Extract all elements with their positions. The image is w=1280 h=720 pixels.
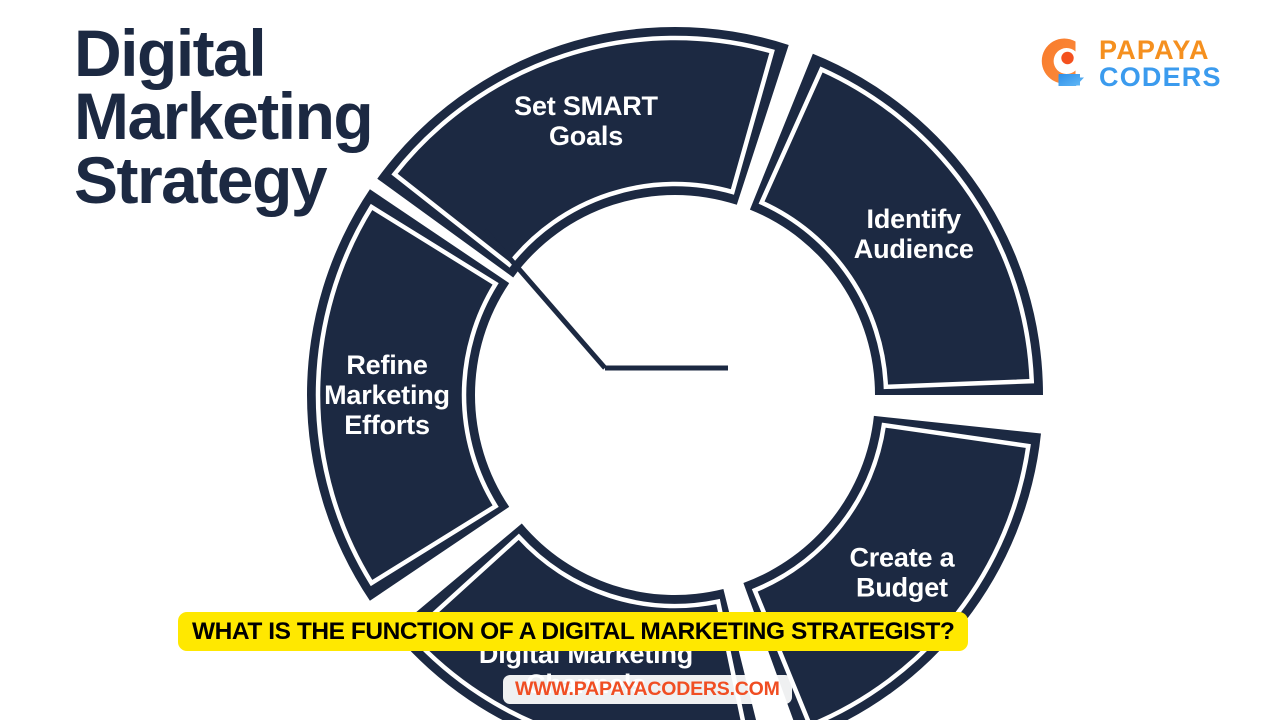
brand-name-line-2: CODERS: [1099, 64, 1222, 91]
headline-banner-text: WHAT IS THE FUNCTION OF A DIGITAL MARKET…: [192, 618, 954, 646]
segment-label-create-a-budget: Create aBudget: [849, 542, 955, 602]
website-url-text: WWW.PAPAYACODERS.COM: [515, 678, 780, 701]
brand-name-line-1: PAPAYA: [1099, 37, 1222, 64]
headline-banner: WHAT IS THE FUNCTION OF A DIGITAL MARKET…: [178, 612, 968, 651]
infographic-canvas: Digital Marketing Strategy: [0, 0, 1280, 720]
website-url-badge[interactable]: WWW.PAPAYACODERS.COM: [503, 675, 792, 704]
brand-logo-text: PAPAYA CODERS: [1099, 37, 1222, 91]
segment-label-identify-audience: IdentifyAudience: [854, 204, 974, 264]
